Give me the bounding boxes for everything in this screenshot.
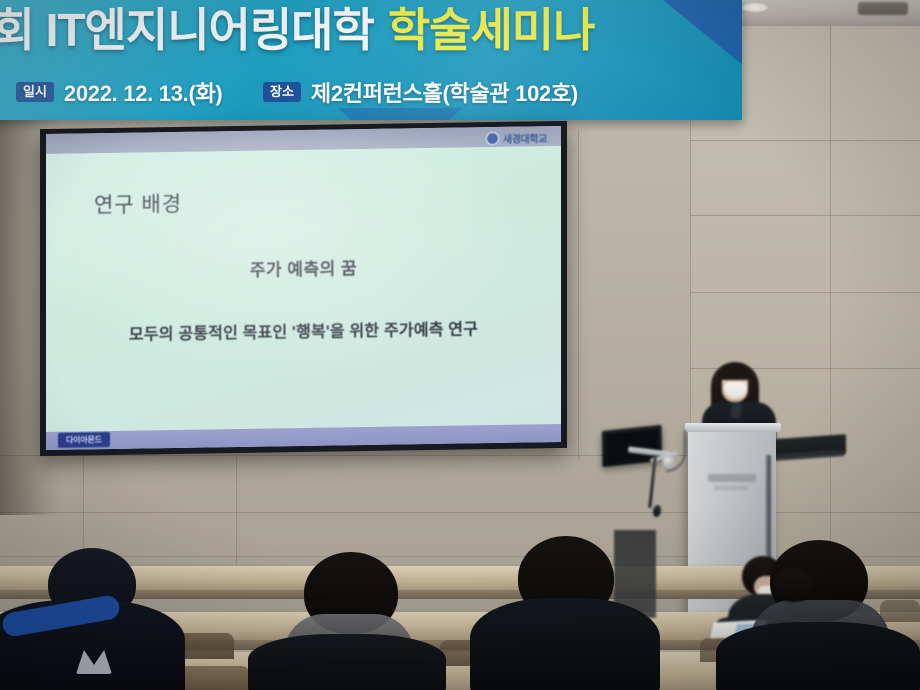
university-logo-mark-icon	[486, 132, 499, 145]
podium-logo-subtext	[714, 486, 748, 490]
ceiling-light-icon	[742, 3, 768, 12]
banner-venue-label: 장소	[263, 82, 301, 102]
projected-slide: 새경대학교 연구 배경 주가 예측의 꿈 모두의 공통적인 목표인 '행복'을 …	[46, 126, 561, 450]
wall-seam	[690, 215, 920, 216]
banner-triangle-decoration	[338, 108, 462, 120]
projection-screen: 새경대학교 연구 배경 주가 예측의 꿈 모두의 공통적인 목표인 '행복'을 …	[40, 121, 567, 456]
monitor-screen	[606, 429, 658, 462]
audience-member	[470, 536, 660, 690]
banner-venue-group: 장소 제2컨퍼런스홀(학술관 102호)	[263, 76, 578, 108]
event-banner: 1회 IT엔지니어링대학학술세미나 일시 2022. 12. 13.(화) 장소…	[0, 0, 742, 120]
lecture-hall-photo: 1회 IT엔지니어링대학학술세미나 일시 2022. 12. 13.(화) 장소…	[0, 0, 920, 690]
monitor-arm-joint	[663, 456, 675, 468]
person-shoulders	[470, 598, 660, 690]
wall-seam	[690, 140, 920, 141]
ceiling-vent-icon	[858, 2, 908, 15]
wall-seam	[0, 512, 920, 513]
wall-seam	[830, 18, 831, 618]
university-logo: 새경대학교	[486, 130, 547, 146]
slide-title: 연구 배경	[94, 188, 182, 219]
person-shoulders	[248, 634, 446, 690]
banner-date-value: 2022. 12. 13.(화)	[64, 76, 223, 108]
slide-subline: 모두의 공통적인 목표인 '행복'을 위한 주가예측 연구	[46, 314, 561, 346]
wall-seam	[690, 292, 920, 293]
banner-date-label: 일시	[16, 82, 54, 102]
banner-date-group: 일시 2022. 12. 13.(화)	[16, 76, 222, 108]
wall-seam	[236, 455, 237, 565]
banner-title: 1회 IT엔지니어링대학학술세미나	[0, 0, 594, 60]
banner-title-accent: 학술세미나	[388, 4, 595, 56]
person-head	[774, 568, 814, 602]
audience-member	[0, 548, 190, 690]
banner-venue-value: 제2컨퍼런스홀(학술관 102호)	[311, 76, 578, 108]
presenter-collar	[730, 402, 741, 419]
slide-headline: 주가 예측의 꿈	[46, 251, 561, 284]
banner-corner-decoration	[658, 0, 742, 66]
presenter-fringe	[719, 363, 751, 380]
audience-member	[248, 552, 448, 690]
banner-title-main: 1회 IT엔지니어링대학	[0, 4, 374, 56]
podium-logo-icon	[708, 474, 756, 482]
university-logo-text: 새경대학교	[503, 130, 547, 146]
slide-footer-badge: 다이아몬드	[58, 432, 110, 448]
podium-top-surface	[685, 423, 781, 432]
slide-body: 연구 배경 주가 예측의 꿈 모두의 공통적인 목표인 '행복'을 위한 주가예…	[46, 146, 561, 432]
wall-seam	[578, 130, 579, 460]
audience-member	[758, 568, 828, 628]
person-shoulders	[716, 622, 920, 690]
